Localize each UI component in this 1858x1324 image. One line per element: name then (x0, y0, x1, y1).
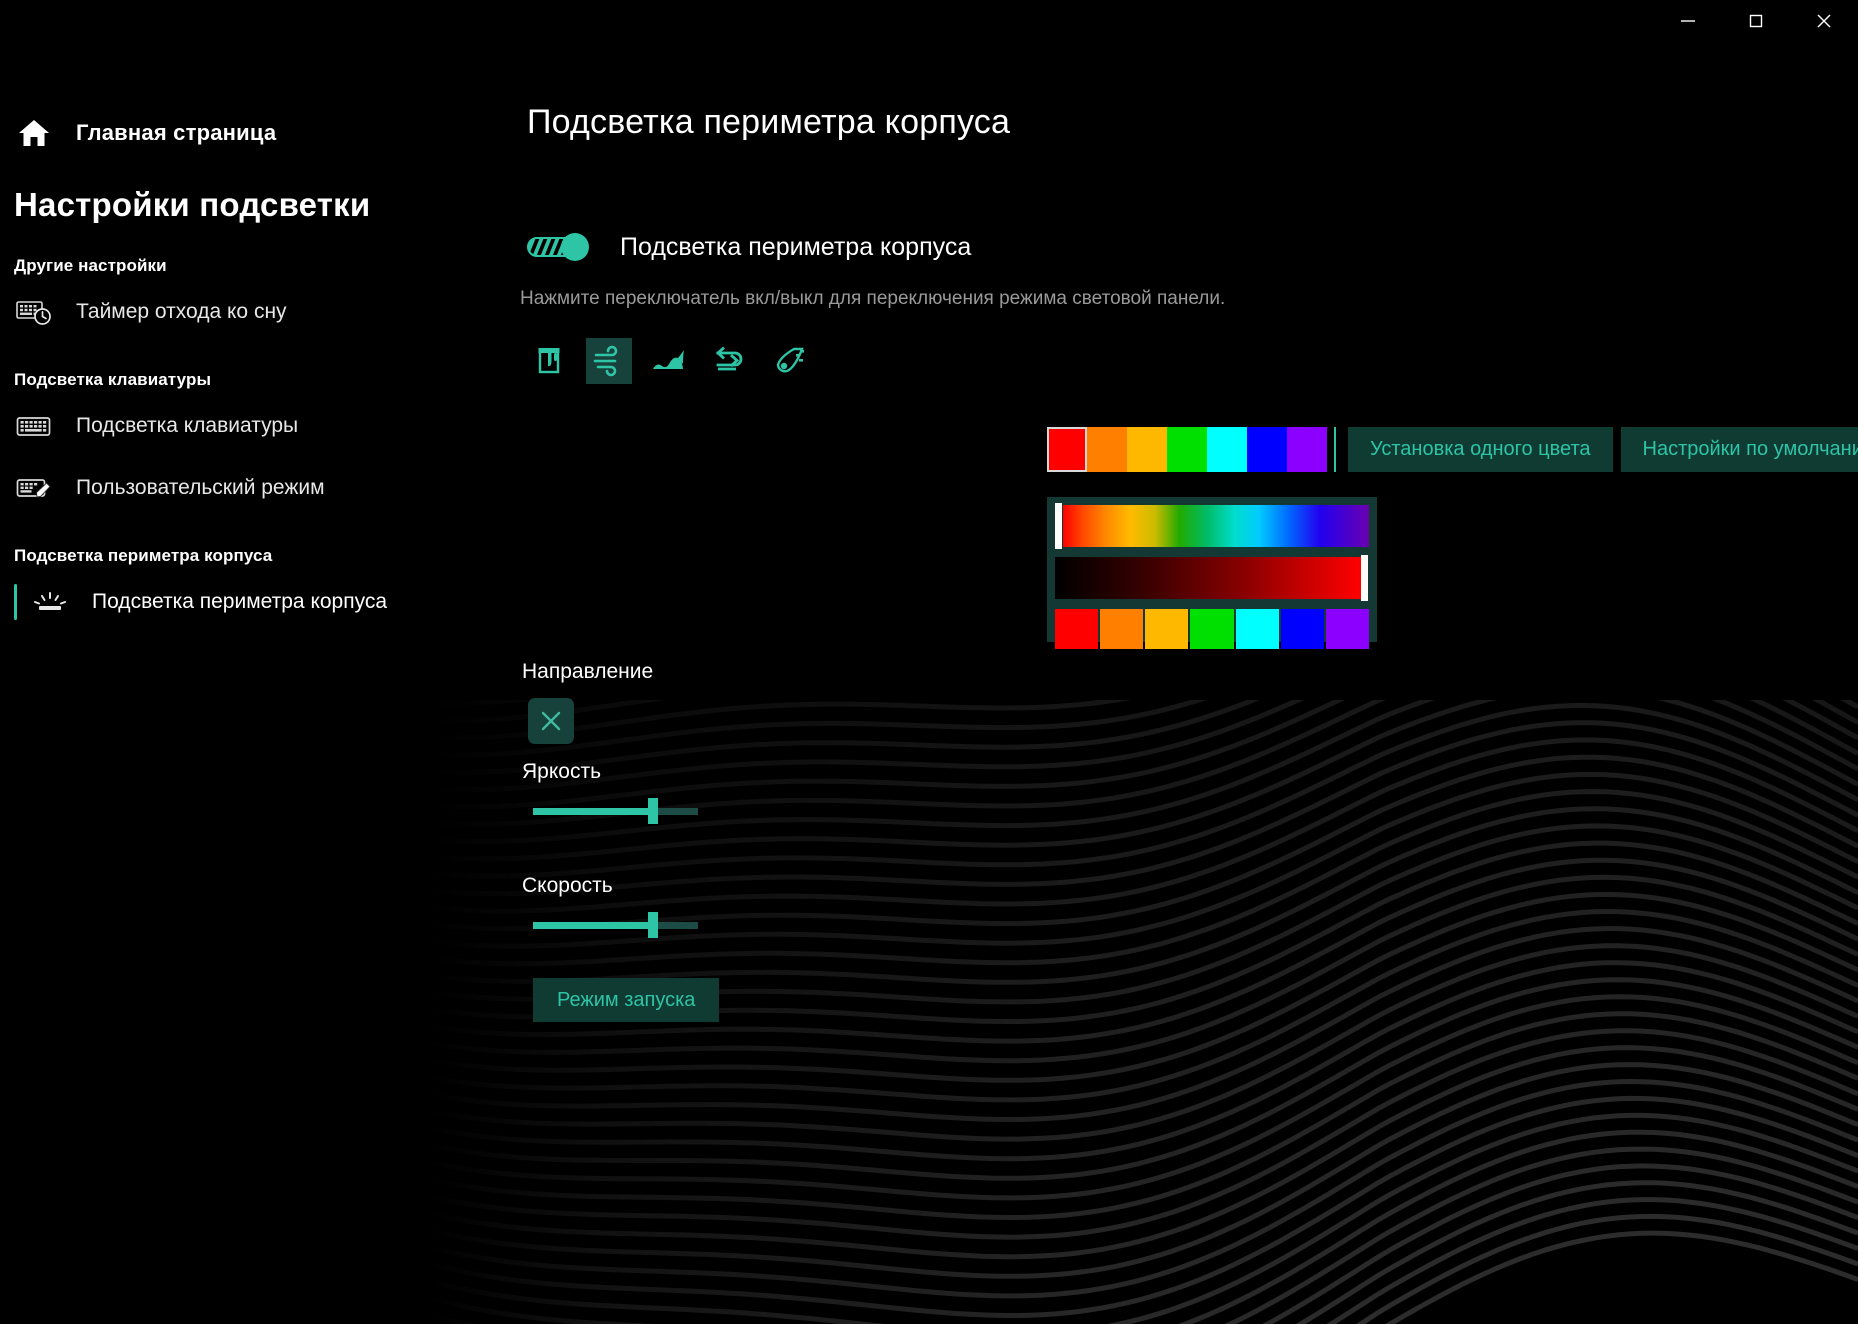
maximize-icon (1745, 10, 1767, 32)
color-swatch-6[interactable] (1287, 427, 1327, 472)
color-swatch-2[interactable] (1127, 427, 1167, 472)
effect-loop-button[interactable] (706, 338, 752, 384)
loop-arrows-icon (712, 344, 746, 378)
sidebar-item-sleep-timer[interactable]: Таймер отхода ко сну (0, 286, 430, 338)
sidebar-group-title-other: Другие настройки (14, 256, 430, 276)
sidebar-item-label: Подсветка периметра корпуса (92, 590, 387, 614)
sidebar-item-label: Таймер отхода ко сну (76, 300, 287, 324)
hue-gradient-bar (1063, 505, 1369, 547)
perimeter-toggle-label: Подсветка периметра корпуса (620, 233, 971, 262)
minimize-icon (1677, 10, 1699, 32)
brightness-fill (533, 808, 653, 815)
app-title: Настройки подсветки (14, 186, 430, 224)
maximize-button[interactable] (1722, 0, 1790, 42)
minimize-button[interactable] (1654, 0, 1722, 42)
app-window: Главная страница Настройки подсветки Дру… (0, 0, 1858, 1324)
launch-mode-button[interactable]: Режим запуска (533, 978, 719, 1022)
hue-slider[interactable] (1055, 505, 1369, 547)
main-content: Подсветка периметра корпуса Подсветка пе… (430, 0, 1858, 1324)
page-title: Подсветка периметра корпуса (527, 103, 1010, 142)
speed-thumb[interactable] (648, 912, 658, 938)
sidebar-item-label: Подсветка клавиатуры (76, 414, 298, 438)
keyboard-icon (14, 409, 54, 443)
effect-comet-button[interactable] (766, 338, 812, 384)
speed-label: Скорость (522, 874, 613, 898)
effect-wind-button[interactable] (586, 338, 632, 384)
swatch-divider (1334, 427, 1336, 472)
wind-icon (592, 344, 626, 378)
hue-slider-handle[interactable] (1055, 503, 1062, 549)
keyboard-clock-icon (14, 295, 54, 329)
speed-fill (533, 922, 653, 929)
sidebar-home-link[interactable]: Главная страница (0, 110, 430, 156)
picker-swatch-row (1055, 609, 1369, 649)
default-settings-button[interactable]: Настройки по умолчанию (1621, 427, 1858, 472)
sidebar-item-keyboard-backlight[interactable]: Подсветка клавиатуры (0, 400, 430, 452)
single-color-button[interactable]: Установка одного цвета (1348, 427, 1613, 472)
top-swatch-strip (1047, 427, 1327, 472)
light-bar-icon (30, 585, 70, 619)
wave-icon (651, 344, 687, 378)
picker-swatch-2[interactable] (1145, 609, 1188, 649)
direction-button[interactable] (528, 698, 574, 744)
close-button[interactable] (1790, 0, 1858, 42)
color-swatch-4[interactable] (1207, 427, 1247, 472)
brightness-slider-picker[interactable] (1055, 557, 1369, 599)
sidebar-home-label: Главная страница (76, 120, 276, 146)
direction-label: Направление (522, 660, 653, 684)
picker-swatch-6[interactable] (1326, 609, 1369, 649)
picker-swatch-4[interactable] (1236, 609, 1279, 649)
color-swatch-5[interactable] (1247, 427, 1287, 472)
value-slider-handle[interactable] (1361, 555, 1368, 601)
sidebar-group-title-keyboard: Подсветка клавиатуры (14, 370, 430, 390)
picker-swatch-1[interactable] (1100, 609, 1143, 649)
color-action-buttons: Установка одного цвета Настройки по умол… (1348, 427, 1858, 472)
effect-mode-row (526, 338, 812, 384)
sidebar-item-custom-mode[interactable]: Пользовательский режим (0, 462, 430, 514)
sidebar-item-perimeter-backlight[interactable]: Подсветка периметра корпуса (0, 576, 430, 628)
close-icon (1813, 10, 1835, 32)
picker-swatch-0[interactable] (1055, 609, 1098, 649)
paint-bucket-icon (532, 344, 566, 378)
color-picker-panel (1047, 497, 1377, 642)
effect-paint-bucket-button[interactable] (526, 338, 572, 384)
brightness-thumb[interactable] (648, 798, 658, 824)
perimeter-toggle-switch[interactable] (527, 230, 594, 264)
color-swatch-0[interactable] (1047, 427, 1087, 472)
picker-swatch-5[interactable] (1281, 609, 1324, 649)
speed-slider[interactable] (533, 912, 698, 938)
sidebar: Главная страница Настройки подсветки Дру… (0, 0, 430, 1324)
color-swatch-1[interactable] (1087, 427, 1127, 472)
perimeter-toggle-row: Подсветка периметра корпуса (527, 230, 971, 264)
toggle-hint-text: Нажмите переключатель вкл/выкл для перек… (520, 288, 1225, 310)
brightness-label: Яркость (522, 760, 601, 784)
home-icon (14, 116, 54, 150)
x-icon (538, 708, 564, 734)
comet-icon (772, 344, 806, 378)
effect-wave-button[interactable] (646, 338, 692, 384)
value-gradient-bar (1055, 557, 1361, 599)
brightness-slider[interactable] (533, 798, 698, 824)
color-swatch-3[interactable] (1167, 427, 1207, 472)
title-bar (0, 0, 1858, 56)
sidebar-item-label: Пользовательский режим (76, 476, 325, 500)
keyboard-pencil-icon (14, 471, 54, 505)
sidebar-group-title-perimeter: Подсветка периметра корпуса (14, 546, 430, 566)
picker-swatch-3[interactable] (1190, 609, 1233, 649)
